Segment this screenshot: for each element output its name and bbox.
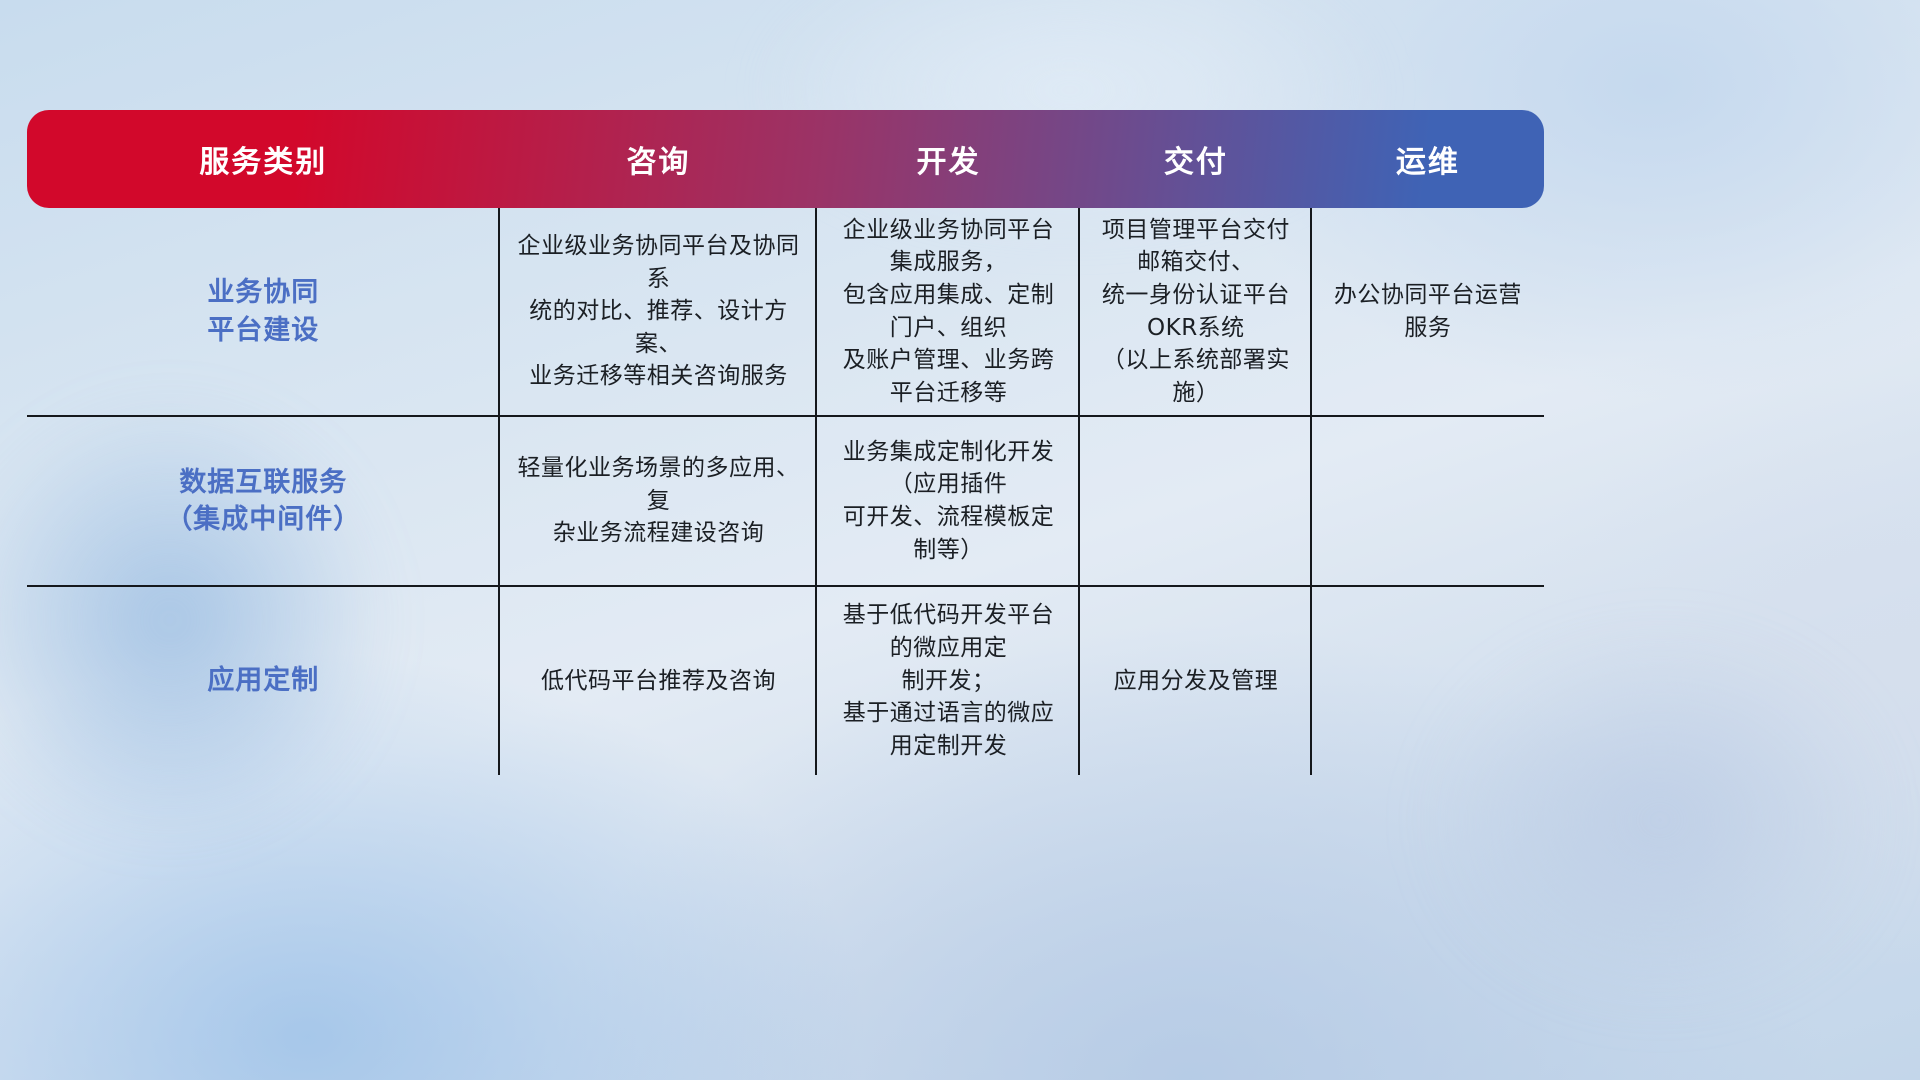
cell-development-row1: 企业级业务协同平台集成服务， 包含应用集成、定制门户、组织 及账户管理、业务跨平… — [817, 208, 1080, 415]
cell-text: 业务集成定制化开发（应用插件 可开发、流程模板定制等） — [831, 436, 1066, 567]
cell-operations-row1: 办公协同平台运营服务 — [1312, 208, 1544, 415]
table-row: 业务协同 平台建设企业级业务协同平台及协同系 统的对比、推荐、设计方案、 业务迁… — [27, 208, 1544, 417]
cell-consulting-row1: 企业级业务协同平台及协同系 统的对比、推荐、设计方案、 业务迁移等相关咨询服务 — [500, 208, 818, 415]
table-row: 数据互联服务 （集成中间件）轻量化业务场景的多应用、复 杂业务流程建设咨询业务集… — [27, 417, 1544, 587]
cell-delivery-row1: 项目管理平台交付 邮箱交付、 统一身份认证平台 OKR系统 （以上系统部署实施） — [1080, 208, 1312, 415]
cell-text: 项目管理平台交付 邮箱交付、 统一身份认证平台 OKR系统 （以上系统部署实施） — [1094, 214, 1298, 410]
column-header-operations[interactable]: 运维 — [1312, 110, 1544, 208]
cell-category-row3: 应用定制 — [27, 587, 500, 775]
cell-consulting-row2: 轻量化业务场景的多应用、复 杂业务流程建设咨询 — [500, 417, 818, 585]
column-header-category[interactable]: 服务类别 — [27, 110, 500, 208]
column-header-consulting[interactable]: 咨询 — [500, 110, 818, 208]
table-row: 应用定制低代码平台推荐及咨询基于低代码开发平台的微应用定 制开发； 基于通过语言… — [27, 587, 1544, 775]
cell-category-row1: 业务协同 平台建设 — [27, 208, 500, 415]
cell-operations-row3 — [1312, 587, 1544, 775]
cell-text: 办公协同平台运营服务 — [1326, 279, 1530, 344]
cell-category-row2: 数据互联服务 （集成中间件） — [27, 417, 500, 585]
category-label: 应用定制 — [207, 662, 319, 699]
table-body: 业务协同 平台建设企业级业务协同平台及协同系 统的对比、推荐、设计方案、 业务迁… — [27, 208, 1544, 775]
cell-text: 低代码平台推荐及咨询 — [541, 665, 776, 698]
cell-development-row2: 业务集成定制化开发（应用插件 可开发、流程模板定制等） — [817, 417, 1080, 585]
cell-consulting-row3: 低代码平台推荐及咨询 — [500, 587, 818, 775]
column-header-delivery[interactable]: 交付 — [1080, 110, 1312, 208]
cell-operations-row2 — [1312, 417, 1544, 585]
category-label: 业务协同 平台建设 — [207, 274, 319, 349]
category-label: 数据互联服务 （集成中间件） — [165, 464, 361, 539]
table-header-row: 服务类别咨询开发交付运维 — [27, 110, 1544, 208]
cell-delivery-row3: 应用分发及管理 — [1080, 587, 1312, 775]
cell-text: 应用分发及管理 — [1114, 665, 1279, 698]
cell-text: 轻量化业务场景的多应用、复 杂业务流程建设咨询 — [514, 452, 804, 550]
cell-text: 企业级业务协同平台及协同系 统的对比、推荐、设计方案、 业务迁移等相关咨询服务 — [514, 230, 804, 393]
service-matrix-table: 服务类别咨询开发交付运维 业务协同 平台建设企业级业务协同平台及协同系 统的对比… — [27, 110, 1544, 775]
column-header-development[interactable]: 开发 — [817, 110, 1080, 208]
cell-delivery-row2 — [1080, 417, 1312, 585]
cell-text: 企业级业务协同平台集成服务， 包含应用集成、定制门户、组织 及账户管理、业务跨平… — [831, 214, 1066, 410]
cell-text: 基于低代码开发平台的微应用定 制开发； 基于通过语言的微应用定制开发 — [831, 599, 1066, 762]
cell-development-row3: 基于低代码开发平台的微应用定 制开发； 基于通过语言的微应用定制开发 — [817, 587, 1080, 775]
